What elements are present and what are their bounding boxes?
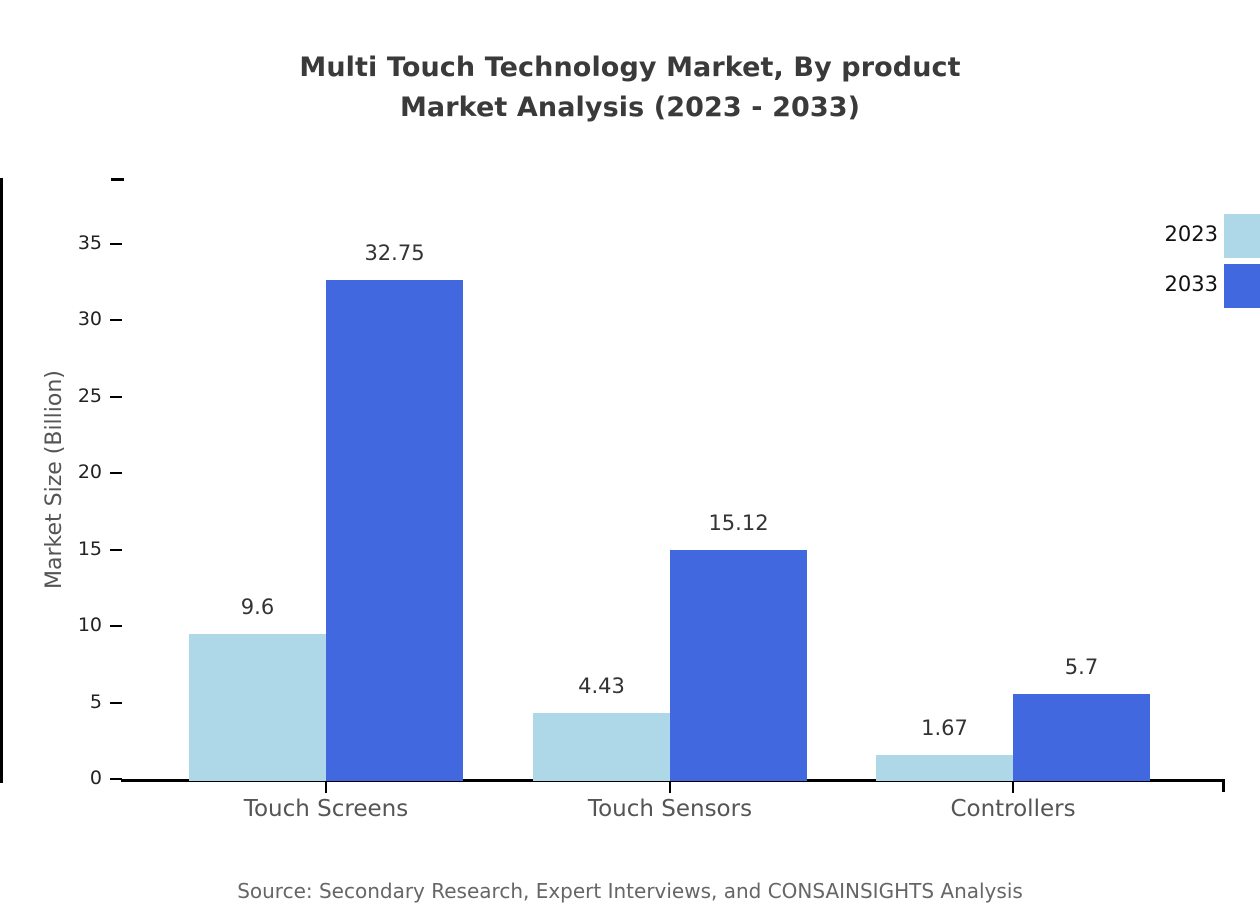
bar-touch-sensors-2023[interactable] (533, 713, 670, 781)
bar-controllers-2023[interactable] (876, 755, 1013, 781)
bar-value-label: 9.6 (189, 597, 326, 618)
bar-value-label: 15.12 (670, 513, 807, 534)
chart-legend: 20232033 (1110, 214, 1260, 310)
bar-value-label: 5.7 (1013, 657, 1150, 678)
y-axis-tick-label: 15 (60, 540, 102, 559)
bar-touch-sensors-2033[interactable] (670, 550, 807, 781)
y-axis-tick-label: 20 (60, 463, 102, 482)
chart-title: Multi Touch Technology Market, By produc… (0, 48, 1260, 128)
x-axis-category-label: Touch Screens (176, 794, 476, 824)
bar-touch-screens-2023[interactable] (189, 634, 326, 781)
bar-value-label: 4.43 (533, 676, 670, 697)
x-axis-tick (1012, 781, 1014, 793)
chart-container: Multi Touch Technology Market, By produc… (0, 0, 1260, 920)
legend-swatch (1224, 214, 1260, 258)
y-axis-tick-label: 0 (60, 769, 102, 788)
y-axis-tick-label: 5 (60, 693, 102, 712)
chart-title-line-2: Market Analysis (2023 - 2033) (0, 88, 1260, 128)
y-axis-tick-label: 25 (60, 387, 102, 406)
legend-label: 2023 (1110, 224, 1218, 245)
bar-value-label: 32.75 (326, 243, 463, 264)
bar-controllers-2033[interactable] (1013, 694, 1150, 781)
y-axis-tick-label: 30 (60, 310, 102, 329)
source-note: Source: Secondary Research, Expert Inter… (0, 878, 1260, 904)
bar-value-label: 1.67 (876, 718, 1013, 739)
y-axis-spine (0, 178, 3, 783)
chart-title-line-1: Multi Touch Technology Market, By produc… (299, 52, 960, 83)
bar-touch-screens-2033[interactable] (326, 280, 463, 781)
legend-item-2033[interactable]: 2033 (1110, 264, 1260, 308)
legend-swatch (1224, 264, 1260, 308)
x-axis-category-label: Touch Sensors (520, 794, 820, 824)
legend-item-2023[interactable]: 2023 (1110, 214, 1260, 258)
x-axis-category-label: Controllers (863, 794, 1163, 824)
y-axis-tick-label: 35 (60, 234, 102, 253)
plot-area (121, 178, 1225, 781)
legend-label: 2033 (1110, 274, 1218, 295)
x-axis-tick (669, 781, 671, 793)
x-axis-tick (325, 781, 327, 793)
y-axis-tick-label: 10 (60, 616, 102, 635)
